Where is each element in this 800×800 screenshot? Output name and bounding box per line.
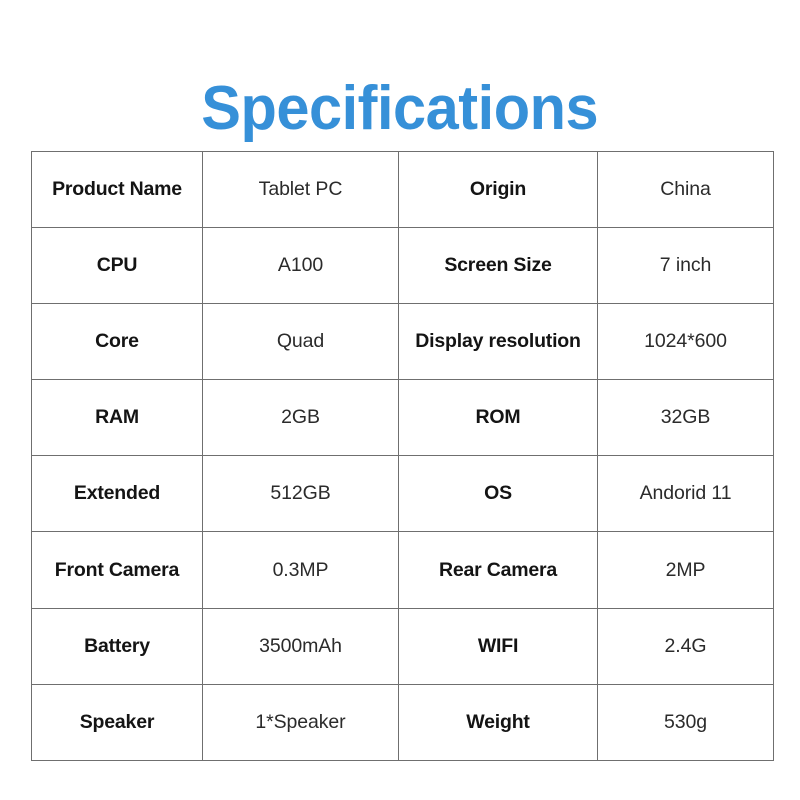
spec-label-cell: Screen Size <box>399 228 598 304</box>
table-row: CPUA100Screen Size7 inch <box>32 228 774 304</box>
spec-label-cell: Front Camera <box>32 532 203 608</box>
spec-value-cell: Andorid 11 <box>598 456 774 532</box>
spec-value-cell: 530g <box>598 684 774 760</box>
specifications-table-body: Product NameTablet PCOriginChinaCPUA100S… <box>32 152 774 761</box>
table-row: RAM2GBROM32GB <box>32 380 774 456</box>
spec-label-cell: RAM <box>32 380 203 456</box>
spec-label-cell: Product Name <box>32 152 203 228</box>
spec-value-cell: 7 inch <box>598 228 774 304</box>
spec-value-cell: China <box>598 152 774 228</box>
table-row: CoreQuadDisplay resolution1024*600 <box>32 304 774 380</box>
spec-label-cell: WIFI <box>399 608 598 684</box>
spec-label-cell: Rear Camera <box>399 532 598 608</box>
spec-value-cell: 0.3MP <box>203 532 399 608</box>
spec-value-cell: 2.4G <box>598 608 774 684</box>
spec-label-cell: Display resolution <box>399 304 598 380</box>
spec-value-cell: 1*Speaker <box>203 684 399 760</box>
spec-value-cell: 2MP <box>598 532 774 608</box>
table-row: Front Camera0.3MPRear Camera2MP <box>32 532 774 608</box>
spec-label-cell: Origin <box>399 152 598 228</box>
spec-label-cell: CPU <box>32 228 203 304</box>
spec-value-cell: Quad <box>203 304 399 380</box>
spec-label-cell: Extended <box>32 456 203 532</box>
spec-value-cell: 1024*600 <box>598 304 774 380</box>
spec-value-cell: 3500mAh <box>203 608 399 684</box>
spec-label-cell: Weight <box>399 684 598 760</box>
table-row: Speaker1*SpeakerWeight530g <box>32 684 774 760</box>
table-row: Extended512GBOSAndorid 11 <box>32 456 774 532</box>
spec-value-cell: 32GB <box>598 380 774 456</box>
spec-label-cell: OS <box>399 456 598 532</box>
spec-label-cell: ROM <box>399 380 598 456</box>
page-title: Specifications <box>202 78 599 140</box>
spec-label-cell: Battery <box>32 608 203 684</box>
spec-value-cell: Tablet PC <box>203 152 399 228</box>
table-row: Battery3500mAhWIFI2.4G <box>32 608 774 684</box>
spec-value-cell: 2GB <box>203 380 399 456</box>
spec-value-cell: 512GB <box>203 456 399 532</box>
specifications-page: Specifications Product NameTablet PCOrig… <box>0 0 800 800</box>
table-row: Product NameTablet PCOriginChina <box>32 152 774 228</box>
specifications-table: Product NameTablet PCOriginChinaCPUA100S… <box>31 151 774 761</box>
spec-value-cell: A100 <box>203 228 399 304</box>
spec-label-cell: Speaker <box>32 684 203 760</box>
spec-label-cell: Core <box>32 304 203 380</box>
